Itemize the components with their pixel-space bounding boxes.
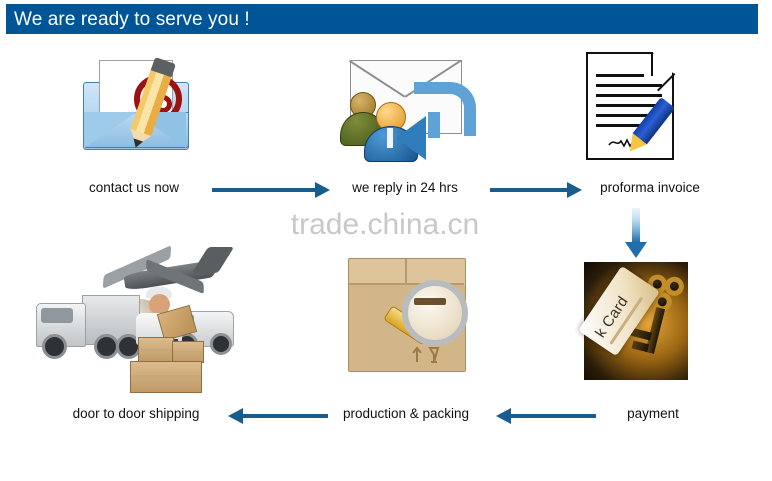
folded-corner-icon [652, 52, 674, 74]
step-label-production-and-packing: production & packing [330, 406, 482, 421]
arrow-left-1 [228, 408, 328, 424]
page-title: We are ready to serve you ! [6, 10, 250, 29]
step-label-door-to-door-shipping: door to door shipping [46, 406, 226, 421]
arrow-right-2 [490, 182, 582, 198]
arrow-right-1 [212, 182, 330, 198]
bank-card-key-photo: k Card [584, 262, 688, 380]
flow-infographic: We are ready to serve you ! trade.china.… [0, 0, 772, 481]
arrow-left-2 [496, 408, 596, 424]
step-label-contact-us-now: contact us now [64, 180, 204, 195]
shipping-logistics-photo [36, 245, 236, 390]
box-magnifier-photo [340, 252, 480, 390]
email-at-pencil-icon [75, 52, 195, 160]
reply-arrow-icon [396, 82, 466, 156]
watermark-text: trade.china.cn [255, 210, 515, 240]
arrow-down [625, 208, 647, 258]
document-pen-signature-icon [578, 48, 690, 160]
step-label-we-reply-in-24-hrs: we reply in 24 hrs [335, 180, 475, 195]
step-label-payment: payment [598, 406, 708, 421]
truck-icon [36, 289, 140, 359]
step-label-proforma-invoice: proforma invoice [580, 180, 720, 195]
cardboard-boxes-icon [130, 337, 216, 391]
header-bar: We are ready to serve you ! [6, 4, 758, 34]
email-reply-users-icon [340, 52, 468, 160]
magnifier-icon [380, 280, 470, 372]
